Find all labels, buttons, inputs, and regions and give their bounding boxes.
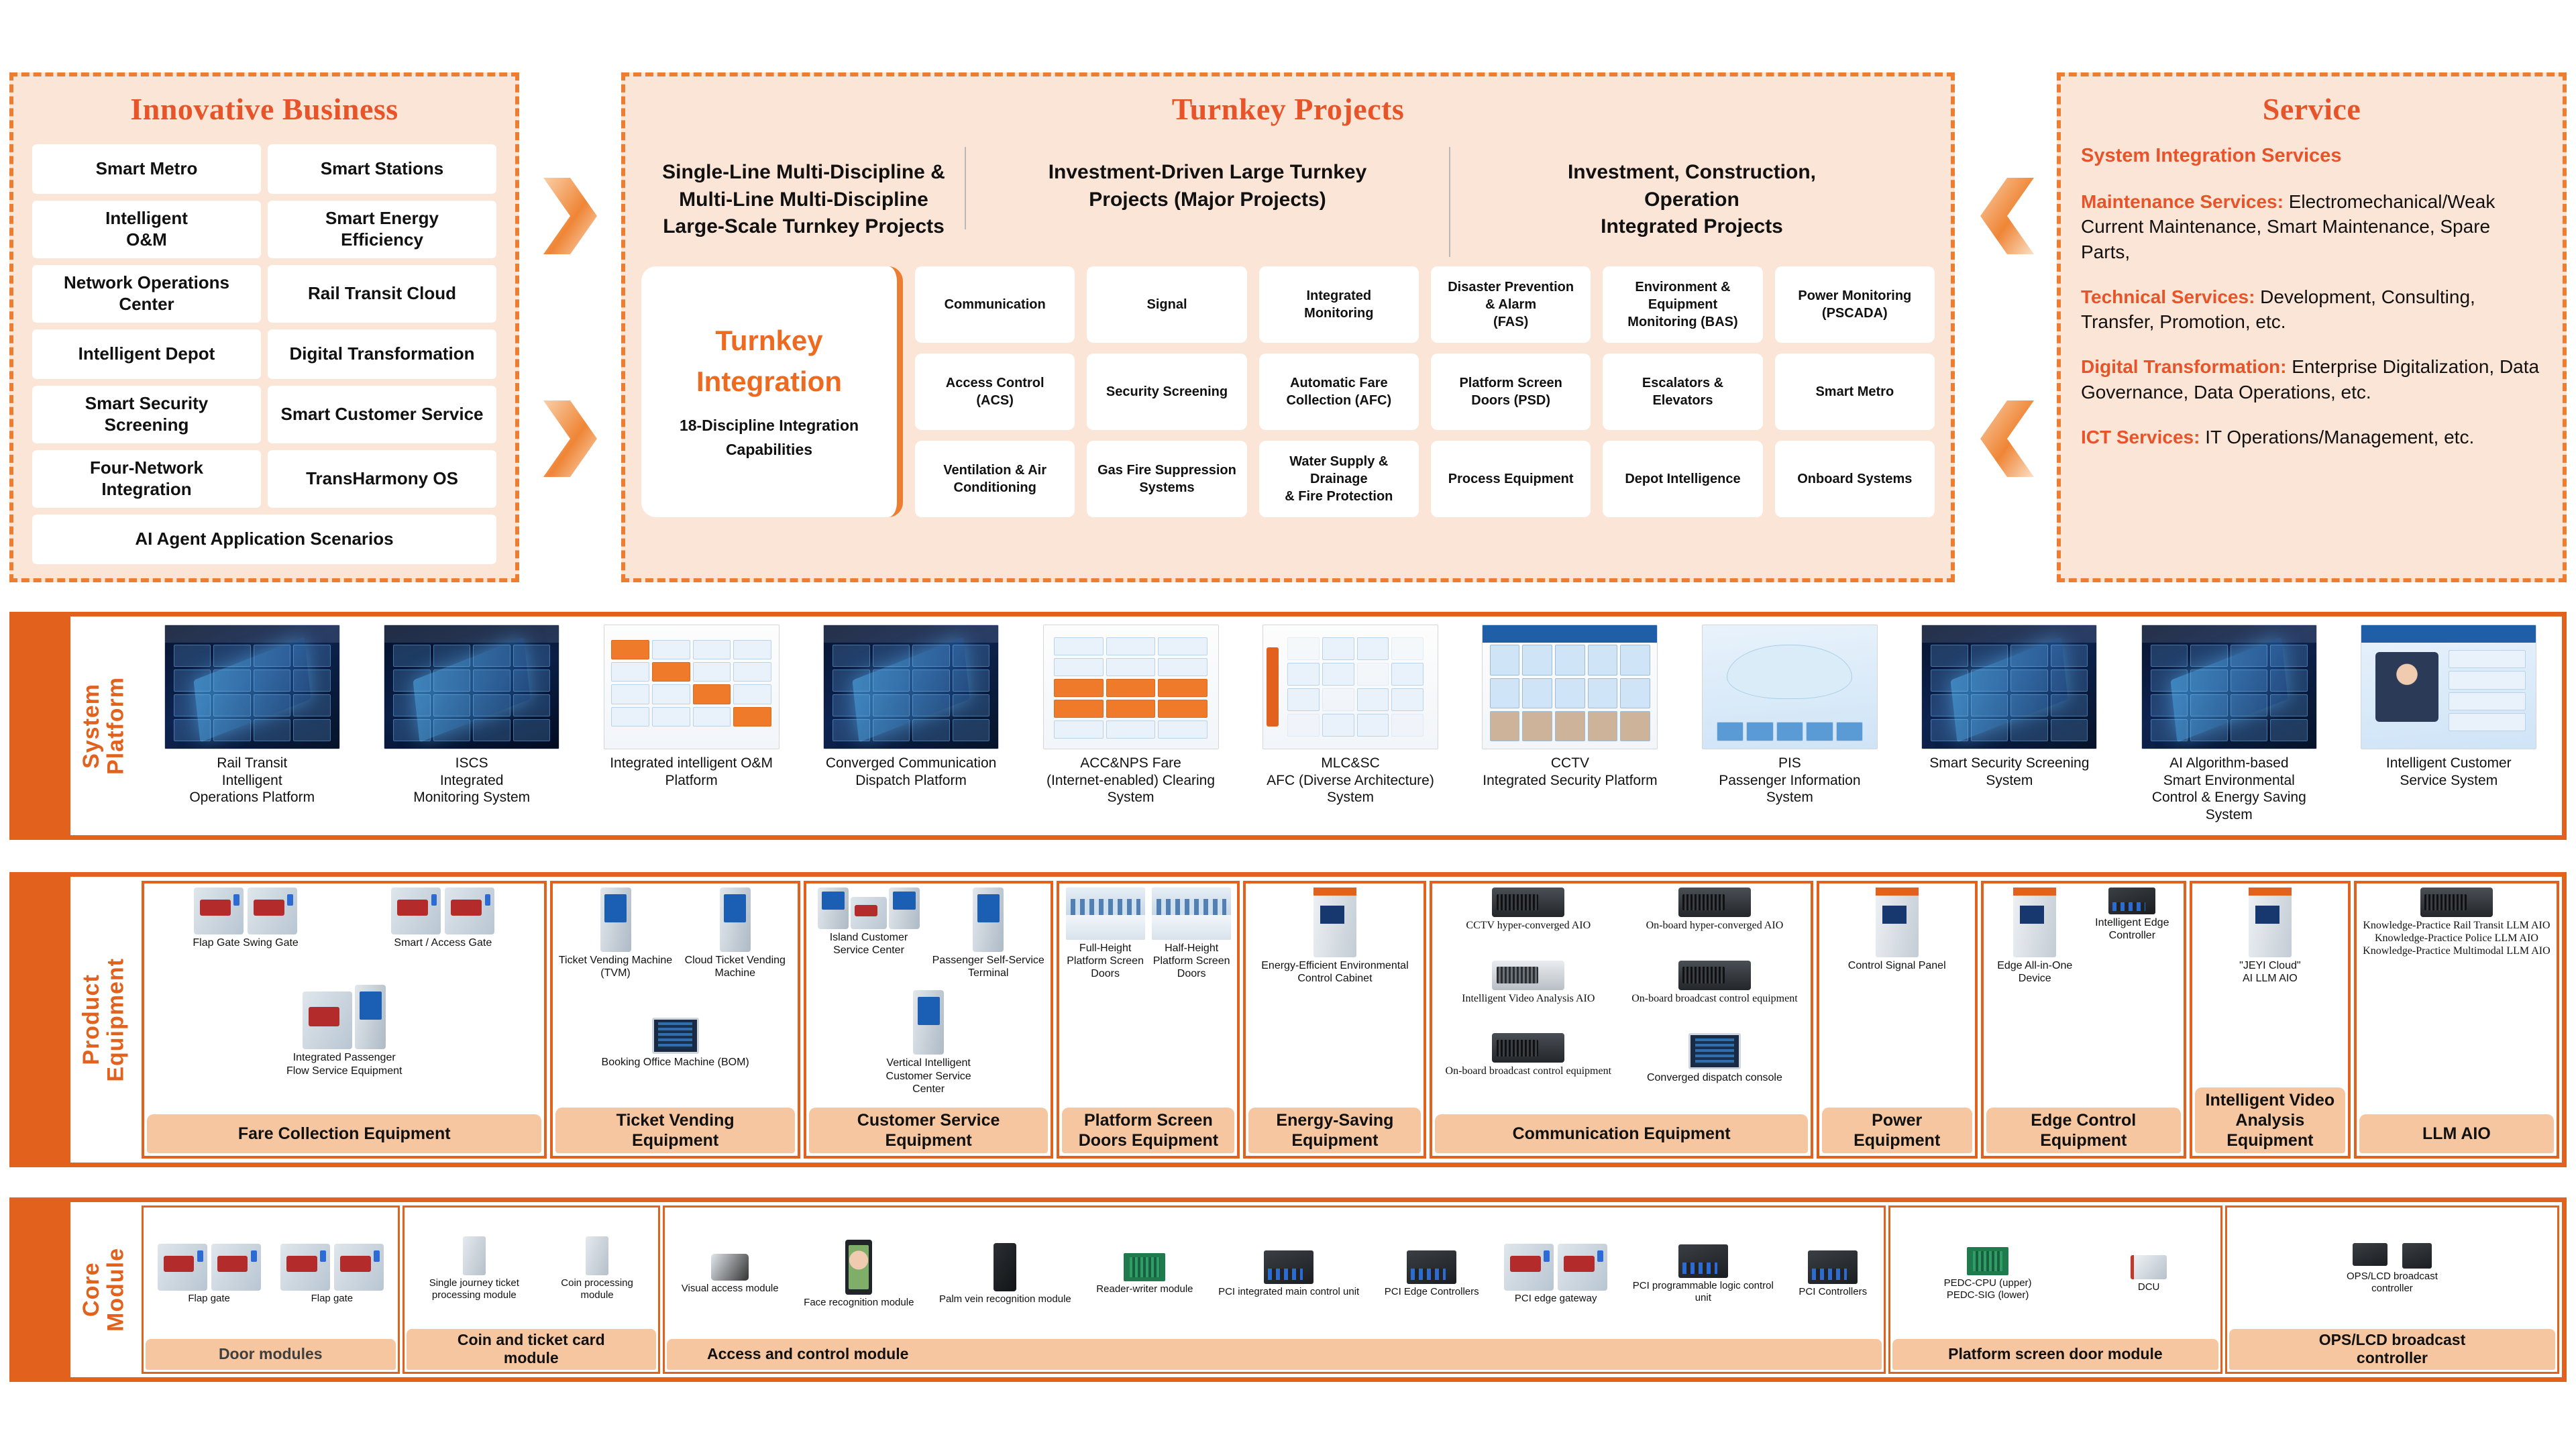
core-module-caption: Coin processingmodule [561,1277,633,1301]
product-item[interactable]: Intelligent Video Analysis AIO [1436,961,1620,1005]
core-group-stage: OPS/LCD broadcastcontroller [2227,1207,2557,1327]
product-group-stage: Island Customer Service CenterPassenger … [806,883,1051,1108]
core-module-item[interactable]: PCI programmable logic controlunit [1633,1244,1774,1304]
product-glyph-coin-module [561,1236,633,1275]
product-glyph-pci-edge-ctrl [1385,1250,1479,1284]
innovative-item[interactable]: Smart Stations [268,144,496,194]
system-platform-item[interactable]: CCTVIntegrated Security Platform [1461,625,1679,789]
product-item-caption: Passenger Self-ServiceTerminal [932,954,1044,979]
product-glyph-passenger-flow-gate [303,985,386,1049]
system-platform-caption: Integrated intelligent O&MPlatform [608,755,775,789]
product-item-caption: Ticket Vending Machine (TVM) [557,954,674,979]
platform-thumbnail-blue-avatar-chat [2361,625,2536,749]
core-module-group[interactable]: OPS/LCD broadcastcontrollerOPS/LCD broad… [2225,1205,2559,1374]
product-item-caption: On-board hyper-converged AIO [1646,919,1784,932]
product-item-caption: Vertical IntelligentCustomer ServiceCent… [886,1057,971,1095]
product-equipment-groups: Flap Gate Swing GateSmart / Access GateI… [139,877,2562,1163]
product-glyph-flap-gate-a [158,1244,261,1291]
platform-thumbnail-blue-camera-grid [1482,625,1658,749]
product-item[interactable]: Smart / Access Gate [345,888,540,949]
product-item[interactable]: On-board broadcast control equipment [1436,1033,1620,1077]
discipline-cell[interactable]: Ventilation & AirConditioning [915,441,1075,517]
product-glyph-server-big [2420,888,2493,917]
product-item[interactable]: Edge All-in-One Device [1988,888,2082,985]
product-item[interactable]: Intelligent Edge Controller [2085,888,2180,942]
product-group-footer: PowerEquipment [1822,1108,1972,1153]
system-platform-caption: Converged CommunicationDispatch Platform [824,755,998,789]
product-glyph-face-recognition [804,1240,914,1295]
system-platform-caption: Smart Security ScreeningSystem [1927,755,2091,789]
product-item-caption: Full-Height Platform ScreenDoors [1063,942,1147,981]
core-module-caption: Flap gate [158,1293,261,1305]
core-module-item[interactable]: Palm vein recognition module [939,1243,1071,1305]
product-item-caption: Flap Gate Swing Gate [193,936,298,949]
chevron-right-icon [541,398,598,480]
turnkey-body: TurnkeyIntegration 18-Discipline Integra… [625,257,1951,532]
product-glyph-desktop-bom [652,1018,699,1054]
product-equipment-row: ProductEquipment Flap Gate Swing GateSma… [9,872,2567,1167]
top-band: Innovative Business Smart MetroSmart Sta… [0,72,2576,602]
product-item[interactable]: On-board hyper-converged AIO [1623,888,1807,932]
product-equipment-group[interactable]: Control Signal PanelPowerEquipment [1817,881,1978,1159]
product-glyph-photo-psd-full [1066,888,1145,940]
core-module-item[interactable]: PEDC-CPU (upper)PEDC-SIG (lower) [1944,1247,2032,1301]
product-group-footer: Customer ServiceEquipment [809,1108,1048,1153]
discipline-cell[interactable]: Environment &EquipmentMonitoring (BAS) [1603,266,1762,343]
platform-thumbnail-dark-3d-tunnel-dashboard [384,625,559,749]
product-group-stage: Control Signal Panel [1819,883,1975,1108]
core-group-footer: Door modules [146,1339,396,1370]
discipline-cell[interactable]: Escalators &Elevators [1603,354,1762,430]
core-module-caption: Palm vein recognition module [939,1293,1071,1305]
innovative-item[interactable]: Smart SecurityScreening [32,386,261,443]
core-module-side-tab [14,1202,70,1377]
product-equipment-group[interactable]: Island Customer Service CenterPassenger … [804,881,1053,1159]
core-module-item[interactable]: PCI edge gateway [1504,1244,1607,1305]
product-glyph-server-light [1492,961,1564,990]
discipline-grid: CommunicationSignalIntegratedMonitoringD… [915,266,1935,517]
chevron-right-icon [541,175,598,257]
product-equipment-group[interactable]: "JEYI Cloud"AI LLM AIOIntelligent VideoA… [2190,881,2351,1159]
core-module-item[interactable]: Flap gate [158,1244,261,1305]
chevron-left-group [1956,72,2057,582]
discipline-cell[interactable]: Power Monitoring(PSCADA) [1775,266,1935,343]
turnkey-projects-panel: Turnkey Projects Single-Line Multi-Disci… [621,72,1955,582]
innovative-item[interactable]: Smart Metro [32,144,261,194]
core-module-item[interactable]: Visual access module [682,1254,779,1295]
discipline-cell[interactable]: Depot Intelligence [1603,441,1762,517]
product-group-stage: "JEYI Cloud"AI LLM AIO [2192,883,2348,1087]
product-group-footer: LLM AIO [2359,1114,2554,1153]
product-glyph-pedc-boards [1944,1247,2032,1275]
product-item-caption: On-board broadcast control equipment [1631,992,1797,1005]
core-module-caption: PCI edge gateway [1504,1293,1607,1305]
product-item[interactable]: Island Customer Service Center [810,888,927,957]
service-entry: Digital Transformation: Enterprise Digit… [2081,354,2542,404]
service-entry-text: IT Operations/Management, etc. [2200,427,2474,447]
service-title: Service [2061,76,2563,127]
product-item-caption: Booking Office Machine (BOM) [602,1056,749,1069]
product-item-caption: Converged dispatch console [1647,1071,1782,1084]
core-module-caption: PCI Edge Controllers [1385,1286,1479,1298]
turnkey-headings: Single-Line Multi-Discipline &Multi-Line… [625,127,1951,257]
core-module-item[interactable]: Flap gate [280,1244,384,1305]
product-glyph-ticket-module [429,1236,519,1275]
core-group-footer: Access and control module [667,1339,1882,1370]
core-module-caption: Reader-writer module [1096,1283,1193,1295]
system-platform-item[interactable]: Intelligent CustomerService System [2340,625,2558,789]
chevron-left-icon [1978,175,2035,257]
product-item-caption: Energy-Efficient EnvironmentalControl Ca… [1261,959,1408,985]
product-item[interactable]: Full-Height Platform ScreenDoors [1063,888,1147,981]
product-item-caption: CCTV hyper-converged AIO [1466,919,1591,932]
product-glyph-gate-pair [194,888,297,934]
product-item[interactable]: Cloud Ticket VendingMachine [677,888,794,979]
core-module-item[interactable]: PCI integrated main control unit [1218,1250,1359,1298]
discipline-cell[interactable]: IntegratedMonitoring [1259,266,1419,343]
core-group-stage: Visual access moduleFace recognition mod… [665,1207,1884,1337]
product-item[interactable]: Flap Gate Swing Gate [148,888,343,949]
turnkey-integration-title: TurnkeyIntegration [696,321,842,402]
core-module-item[interactable]: Face recognition module [804,1240,914,1309]
core-module-group[interactable]: Visual access moduleFace recognition mod… [663,1205,1886,1374]
core-module-row: CoreModule Flap gateFlap gateDoor module… [9,1197,2567,1382]
product-item[interactable]: Booking Office Machine (BOM) [557,1018,793,1069]
system-platform-item[interactable]: MLC&SCAFC (Diverse Architecture)System [1241,625,1459,806]
product-glyph-island-desk [818,888,920,929]
innovative-business-panel: Innovative Business Smart MetroSmart Sta… [9,72,519,582]
platform-thumbnail-white-flow-diagram [1263,625,1438,749]
innovative-item[interactable]: Intelligent Depot [32,329,261,379]
product-item[interactable]: CCTV hyper-converged AIO [1436,888,1620,932]
product-item[interactable]: On-board broadcast control equipment [1623,961,1807,1005]
product-glyph-cabinet-open [1876,888,1919,957]
service-entry: ICT Services: IT Operations/Management, … [2081,425,2542,449]
discipline-cell[interactable]: Disaster Prevention& Alarm(FAS) [1431,266,1591,343]
system-platform-caption: AI Algorithm-basedSmart EnvironmentalCon… [2150,755,2308,823]
product-glyph-server-dark [1492,888,1564,917]
product-item-caption: Intelligent Video Analysis AIO [1462,992,1595,1005]
discipline-cell[interactable]: Smart Metro [1775,354,1935,430]
core-group-stage: PEDC-CPU (upper)PEDC-SIG (lower)DCU [1890,1207,2220,1337]
core-group-stage: Flap gateFlap gate [144,1207,398,1337]
product-item-caption: Edge All-in-One Device [1988,959,2082,985]
core-module-item[interactable]: PCI Edge Controllers [1385,1250,1479,1298]
core-module-item[interactable]: DCU [2131,1255,2167,1293]
system-platform-caption: Rail TransitIntelligentOperations Platfo… [187,755,317,806]
core-module-caption: Flap gate [280,1293,384,1305]
system-platform-side-label: SystemPlatform [70,616,139,835]
product-glyph-visual-access [682,1254,779,1281]
product-group-footer: Communication Equipment [1435,1114,1807,1153]
product-item[interactable]: Knowledge-Practice Rail Transit LLM AIOK… [2361,888,2553,958]
innovative-item[interactable]: Smart EnergyEfficiency [268,201,496,258]
core-group-footer: Platform screen door module [1892,1339,2218,1370]
product-item-caption: Half-Height Platform ScreenDoors [1150,942,1234,981]
product-group-stage: Edge All-in-One DeviceIntelligent Edge C… [1984,883,2184,1108]
core-module-group[interactable]: Single journey ticketprocessing moduleCo… [402,1205,661,1374]
turnkey-heading: Single-Line Multi-Discipline &Multi-Line… [643,147,965,257]
system-platform-caption: Intelligent CustomerService System [2384,755,2514,789]
product-group-footer: Energy-SavingEquipment [1248,1108,1421,1153]
system-platform-item[interactable]: Smart Security ScreeningSystem [1900,625,2118,789]
product-item-caption: Smart / Access Gate [394,936,492,949]
system-platform-item[interactable]: Converged CommunicationDispatch Platform [802,625,1020,789]
discipline-cell[interactable]: Water Supply &Drainage& Fire Protection [1259,441,1419,517]
product-equipment-group[interactable]: Full-Height Platform ScreenDoorsHalf-Hei… [1057,881,1240,1159]
core-module-caption: PCI programmable logic controlunit [1633,1280,1774,1304]
core-module-caption: PEDC-CPU (upper)PEDC-SIG (lower) [1944,1277,2032,1301]
product-glyph-ops-lcd-controller [2347,1243,2438,1269]
core-module-caption: PCI integrated main control unit [1218,1286,1359,1298]
product-equipment-group[interactable]: Energy-Efficient EnvironmentalControl Ca… [1243,881,1426,1159]
product-glyph-pci-main-unit [1218,1250,1359,1284]
product-glyph-photo-psd-half [1152,888,1231,940]
system-platform-side-tab [14,616,70,835]
product-item[interactable]: Energy-Efficient EnvironmentalControl Ca… [1250,888,1419,985]
product-glyph-edge-controller [2108,888,2155,914]
product-glyph-kiosk-self-service [973,888,1004,952]
platform-thumbnail-dark-security-dashboard [1921,625,2097,749]
product-glyph-palm-vein [939,1243,1071,1291]
service-body: System Integration Services Maintenance … [2061,127,2563,449]
product-equipment-group[interactable]: CCTV hyper-converged AIOOn-board hyper-c… [1430,881,1813,1159]
system-platform-items: Rail TransitIntelligentOperations Platfo… [139,616,2562,835]
core-module-caption: PCI Controllers [1799,1286,1867,1298]
product-glyph-cabinet-ai [2249,888,2292,957]
product-item-caption: Control Signal Panel [1848,959,1946,972]
system-platform-row: SystemPlatform Rail TransitIntelligentOp… [9,612,2567,840]
product-item[interactable]: Half-Height Platform ScreenDoors [1150,888,1234,981]
product-group-stage: Knowledge-Practice Rail Transit LLM AIOK… [2357,883,2557,1114]
core-module-caption: Face recognition module [804,1297,914,1309]
discipline-cell[interactable]: Onboard Systems [1775,441,1935,517]
product-equipment-group[interactable]: Knowledge-Practice Rail Transit LLM AIOK… [2354,881,2559,1159]
innovative-item[interactable]: Network OperationsCenter [32,265,261,323]
innovative-item[interactable]: Smart Customer Service [268,386,496,443]
product-group-stage: Energy-Efficient EnvironmentalControl Ca… [1246,883,1424,1108]
product-item-caption: Integrated PassengerFlow Service Equipme… [286,1051,402,1077]
core-module-group[interactable]: Flap gateFlap gateDoor modules [142,1205,400,1374]
core-module-group[interactable]: PEDC-CPU (upper)PEDC-SIG (lower)DCUPlatf… [1888,1205,2222,1374]
core-module-caption: DCU [2131,1281,2167,1293]
innovative-item[interactable]: Digital Transformation [268,329,496,379]
discipline-cell[interactable]: Signal [1087,266,1246,343]
core-module-groups: Flap gateFlap gateDoor modulesSingle jou… [139,1202,2562,1377]
chevron-right-group [519,72,620,582]
product-item-caption: On-board broadcast control equipment [1446,1065,1611,1077]
product-equipment-group[interactable]: Edge All-in-One DeviceIntelligent Edge C… [1981,881,2186,1159]
service-entries: Maintenance Services: Electromechanical/… [2081,189,2542,449]
system-platform-item[interactable]: ACC&NPS Fare(Internet-enabled) ClearingS… [1022,625,1240,806]
platform-thumbnail-light-product-matrix [604,625,780,749]
system-platform-caption: MLC&SCAFC (Diverse Architecture)System [1265,755,1436,806]
core-module-caption: OPS/LCD broadcastcontroller [2347,1271,2438,1295]
discipline-cell[interactable]: Access Control(ACS) [915,354,1075,430]
core-group-stage: Single journey ticketprocessing moduleCo… [405,1207,659,1327]
product-glyph-flap-gate-b [280,1244,384,1291]
product-item[interactable]: Vertical IntelligentCustomer ServiceCent… [810,990,1046,1095]
product-glyph-server-rack2 [1678,961,1751,990]
core-module-side-label: CoreModule [70,1202,139,1377]
product-item-caption: "JEYI Cloud"AI LLM AIO [2239,959,2300,985]
product-group-footer: Intelligent VideoAnalysis Equipment [2195,1087,2345,1153]
turnkey-projects-title: Turnkey Projects [625,76,1951,127]
innovative-item[interactable]: Rail Transit Cloud [268,265,496,323]
product-group-stage: CCTV hyper-converged AIOOn-board hyper-c… [1432,883,1810,1114]
product-item[interactable]: Passenger Self-ServiceTerminal [930,888,1046,979]
platform-thumbnail-dark-3d-station-dashboard [164,625,340,749]
turnkey-integration-subtitle: 18-Discipline IntegrationCapabilities [680,413,859,463]
product-glyph-server-flat [1492,1033,1564,1063]
product-glyph-pci-controllers [1799,1250,1867,1284]
product-equipment-side-tab [14,877,70,1163]
product-glyph-dcu-unit [2131,1255,2167,1279]
turnkey-integration-card: TurnkeyIntegration 18-Discipline Integra… [641,266,903,517]
product-glyph-pci-plc [1633,1244,1774,1278]
product-group-footer: Platform ScreenDoors Equipment [1062,1108,1234,1153]
product-glyph-cabinet-edge [2013,888,2056,957]
innovative-item[interactable]: TransHarmony OS [268,450,496,508]
core-group-footer: Coin and ticket cardmodule [407,1329,657,1370]
platform-thumbnail-cloud-topology-diagram [1702,625,1878,749]
product-group-footer: Fare Collection Equipment [147,1114,541,1153]
product-glyph-gate-smart [391,888,494,934]
core-module-caption: Single journey ticketprocessing module [429,1277,519,1301]
product-equipment-group[interactable]: Ticket Vending Machine (TVM)Cloud Ticket… [550,881,800,1159]
chevron-left-icon [1978,398,2035,480]
product-glyph-kiosk-cloud [720,888,751,952]
core-module-item[interactable]: PCI Controllers [1799,1250,1867,1298]
product-equipment-group[interactable]: Flap Gate Swing GateSmart / Access GateI… [142,881,547,1159]
system-platform-caption: PISPassenger InformationSystem [1717,755,1862,806]
product-item[interactable]: Ticket Vending Machine (TVM) [557,888,674,979]
system-platform-caption: ACC&NPS Fare(Internet-enabled) ClearingS… [1044,755,1217,806]
innovative-business-grid: Smart MetroSmart StationsIntelligentO&MS… [13,127,515,564]
innovative-item-ai-agent[interactable]: AI Agent Application Scenarios [32,515,496,564]
system-platform-item[interactable]: AI Algorithm-basedSmart EnvironmentalCon… [2120,625,2338,823]
core-module-item[interactable]: Single journey ticketprocessing module [429,1236,519,1301]
product-item[interactable]: Integrated PassengerFlow Service Equipme… [148,985,540,1077]
system-platform-item[interactable]: Integrated intelligent O&MPlatform [582,625,800,789]
service-panel: Service System Integration Services Main… [2057,72,2567,582]
system-platform-caption: CCTVIntegrated Security Platform [1481,755,1659,789]
core-module-item[interactable]: Coin processingmodule [561,1236,633,1301]
product-glyph-cabinet-eec [1313,888,1356,957]
infographic-root: Innovative Business Smart MetroSmart Sta… [0,0,2576,1449]
platform-thumbnail-dark-dispatch-console [823,625,999,749]
product-item-caption: Island Customer Service Center [810,931,927,957]
product-group-stage: Ticket Vending Machine (TVM)Cloud Ticket… [553,883,797,1108]
product-item[interactable]: "JEYI Cloud"AI LLM AIO [2196,888,2344,985]
product-glyph-kiosk-vertical [913,990,944,1055]
product-glyph-reader-writer [1096,1253,1193,1281]
product-group-stage: Flap Gate Swing GateSmart / Access GateI… [144,883,544,1114]
core-module-caption: Visual access module [682,1283,779,1295]
platform-thumbnail-white-architecture-diagram [1043,625,1219,749]
service-entry-label: Maintenance Services: [2081,191,2284,212]
service-entry: Maintenance Services: Electromechanical/… [2081,189,2542,264]
product-group-footer: Ticket VendingEquipment [555,1108,794,1153]
product-glyph-server-rack [1678,888,1751,917]
system-platform-item[interactable]: Rail TransitIntelligentOperations Platfo… [143,625,361,806]
core-module-item[interactable]: Reader-writer module [1096,1253,1193,1295]
service-heading: System Integration Services [2081,143,2542,169]
product-glyph-pci-gateway [1504,1244,1607,1291]
service-entry: Technical Services: Development, Consult… [2081,284,2542,334]
discipline-cell[interactable]: Process Equipment [1431,441,1591,517]
system-platform-item[interactable]: ISCSIntegratedMonitoring System [362,625,580,806]
core-group-footer: OPS/LCD broadcastcontroller [2229,1329,2555,1370]
system-platform-caption: ISCSIntegratedMonitoring System [411,755,532,806]
system-platform-item[interactable]: PISPassenger InformationSystem [1680,625,1898,806]
discipline-cell[interactable]: Automatic FareCollection (AFC) [1259,354,1419,430]
product-group-stage: Full-Height Platform ScreenDoorsHalf-Hei… [1059,883,1237,1108]
service-entry-label: Technical Services: [2081,286,2255,307]
product-item-caption: Intelligent Edge Controller [2085,916,2180,942]
product-item-caption: Cloud Ticket VendingMachine [685,954,786,979]
product-group-footer: Edge Control Equipment [1986,1108,2181,1153]
innovative-item[interactable]: IntelligentO&M [32,201,261,258]
product-item[interactable]: Converged dispatch console [1623,1033,1807,1084]
discipline-cell[interactable]: Security Screening [1087,354,1246,430]
service-entry-label: Digital Transformation: [2081,356,2286,377]
product-equipment-side-label: ProductEquipment [70,877,139,1163]
product-glyph-kiosk-tvm [600,888,631,952]
discipline-cell[interactable]: Platform ScreenDoors (PSD) [1431,354,1591,430]
discipline-cell[interactable]: Communication [915,266,1075,343]
service-entry-label: ICT Services: [2081,427,2200,447]
core-module-item[interactable]: OPS/LCD broadcastcontroller [2347,1243,2438,1295]
innovative-item[interactable]: Four-NetworkIntegration [32,450,261,508]
platform-thumbnail-dark-energy-dashboard [2141,625,2317,749]
turnkey-heading: Investment-Driven Large TurnkeyProjects … [965,147,1449,229]
product-item[interactable]: Control Signal Panel [1823,888,1971,972]
discipline-cell[interactable]: Gas Fire SuppressionSystems [1087,441,1246,517]
innovative-business-title: Innovative Business [13,76,515,127]
turnkey-heading: Investment, Construction,OperationIntegr… [1449,147,1933,257]
product-item-caption: Knowledge-Practice Rail Transit LLM AIOK… [2363,919,2551,958]
product-glyph-dispatch-console [1688,1033,1741,1069]
